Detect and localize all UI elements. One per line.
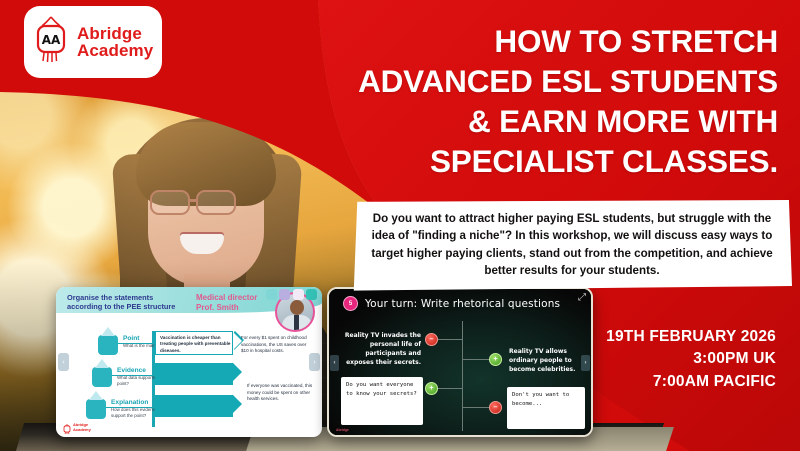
svg-text:AA: AA <box>42 33 61 47</box>
connector-evidence <box>112 375 154 376</box>
expand-icon[interactable]: ⤢ <box>578 292 586 303</box>
step-explanation: Explanation How does this evidence suppo… <box>86 399 163 419</box>
marker-negative-1[interactable]: – <box>425 333 438 346</box>
brand-wordmark: Abridge Academy <box>77 25 153 60</box>
headline-line-1: HOW TO STRETCH <box>222 22 778 62</box>
slide-number-badge: 5 <box>343 296 358 311</box>
brand-line-2: Academy <box>77 42 153 59</box>
triangle-accent <box>101 327 115 336</box>
connector-explanation <box>106 407 154 408</box>
presenter-role: Medical director <box>196 293 272 303</box>
lantern-icon: AA <box>30 14 72 70</box>
answer-slot-explanation[interactable] <box>155 395 233 417</box>
event-time-pacific: 7:00AM PACIFIC <box>606 371 776 393</box>
slide-left-title: Organise the statements according to the… <box>67 293 189 312</box>
marker-positive-2[interactable]: + <box>425 382 438 395</box>
avatar-tie <box>294 315 299 330</box>
connector-point <box>118 343 154 344</box>
step-icon-point <box>98 335 118 355</box>
answer-input-right[interactable]: Don't you want to become... <box>507 387 585 429</box>
axis-vertical <box>462 321 463 431</box>
answer-card-text: Vaccination is cheaper than treating peo… <box>160 335 232 354</box>
headline-line-4: SPECIALIST CLASSES. <box>222 142 778 182</box>
event-time-uk: 3:00PM UK <box>606 348 776 370</box>
fact-2: If everyone was vaccinated, this money c… <box>247 383 317 403</box>
slide-right-title: Your turn: Write rhetorical questions <box>365 298 560 310</box>
triangle-accent <box>89 391 103 400</box>
slide-toolbar[interactable] <box>266 289 318 300</box>
slide-footer-logo: Abridge Academy <box>63 422 91 433</box>
slide-right-prev-button[interactable]: ‹ <box>330 355 339 371</box>
schedule-block: 19TH FEBRUARY 2026 3:00PM UK 7:00AM PACI… <box>606 326 776 393</box>
headline-line-2: ADVANCED ESL STUDENTS <box>222 62 778 102</box>
step-icon-evidence <box>92 367 112 387</box>
marker-negative-2[interactable]: – <box>489 401 502 414</box>
answer-input-left[interactable]: Do you want everyone to know your secret… <box>341 377 423 425</box>
subheading-box: Do you want to attract higher paying ESL… <box>352 200 792 291</box>
statement-left: Reality TV invades the personal life of … <box>343 331 421 367</box>
slide-prev-button[interactable]: ‹ <box>58 353 69 371</box>
fact-1: For every $1 spent on childhood vaccinat… <box>241 335 311 355</box>
triangle-accent <box>95 359 109 368</box>
eraser-icon[interactable] <box>279 289 290 300</box>
answer-card-point[interactable]: Vaccination is cheaper than treating peo… <box>155 331 233 355</box>
brand-line-1: Abridge <box>77 25 153 42</box>
slide-pee-structure[interactable]: Organise the statements according to the… <box>56 287 322 437</box>
event-date: 19TH FEBRUARY 2026 <box>606 326 776 348</box>
slide-right-footer-logo: Abridge <box>336 428 349 432</box>
presenter-name: Prof. Smith <box>196 303 272 313</box>
subheading-text: Do you want to attract higher paying ESL… <box>366 210 778 280</box>
footer-logo-line-2: Academy <box>73 428 91 432</box>
answer-slot-evidence[interactable] <box>155 363 233 385</box>
step-icon-explanation <box>86 399 106 419</box>
slide-right-next-button[interactable]: › <box>581 355 590 371</box>
lantern-icon <box>63 422 71 433</box>
headline-line-3: & EARN MORE WITH <box>222 102 778 142</box>
webinar-promo-banner: AA Abridge Academy HOW TO STRETCH ADVANC… <box>0 0 800 451</box>
statement-right: Reality TV allows ordinary people to bec… <box>509 347 585 374</box>
avatar-head <box>290 300 304 315</box>
marker-positive-1[interactable]: + <box>489 353 502 366</box>
slide-next-button[interactable]: › <box>309 353 320 371</box>
headline: HOW TO STRETCH ADVANCED ESL STUDENTS & E… <box>222 22 778 181</box>
presenter-role-name: Medical director Prof. Smith <box>196 293 272 313</box>
note-icon[interactable] <box>293 289 304 300</box>
brand-logo[interactable]: AA Abridge Academy <box>24 6 162 78</box>
slide-rhetorical-questions[interactable]: 5 Your turn: Write rhetorical questions … <box>327 287 593 437</box>
shape-icon[interactable] <box>306 289 317 300</box>
pen-icon[interactable] <box>266 289 277 300</box>
